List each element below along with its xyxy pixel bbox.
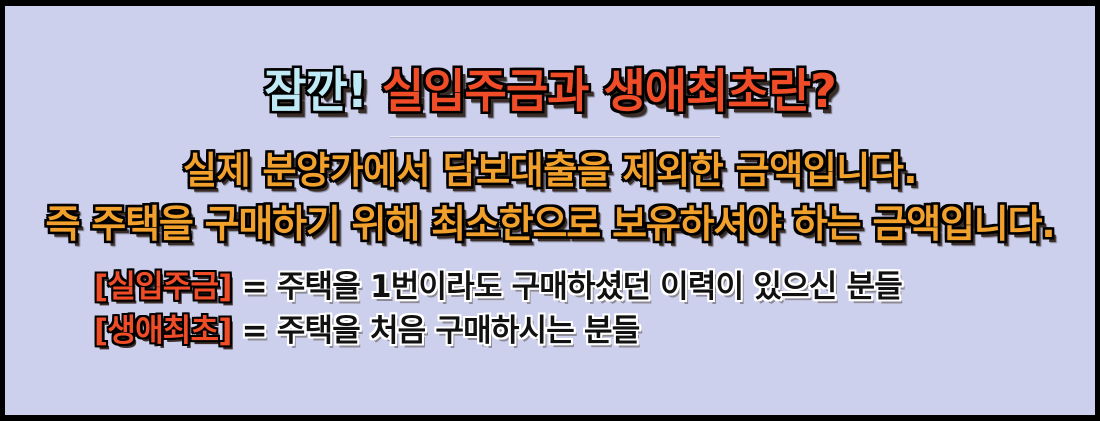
body-line-1: 실제 분양가에서 담보대출을 제외한 금액입니다.	[5, 152, 1095, 189]
definition-list: [실입주금] = 주택을 1번이라도 구매하셨던 이력이 있으신 분들 [생애최…	[5, 272, 1095, 347]
definition-separator-1: =	[232, 269, 277, 305]
definition-tag-silipjugeum: [실입주금]	[94, 269, 232, 305]
definition-tag-saengaechoecho: [생애최초]	[94, 313, 232, 349]
title-highlight-text: 잠깐!	[264, 68, 367, 114]
title-divider	[390, 136, 720, 137]
definition-description-saengaechoecho: 주택을 처음 구매하시는 분들	[277, 313, 640, 349]
definition-row: [실입주금] = 주택을 1번이라도 구매하셨던 이력이 있으신 분들	[94, 272, 1006, 303]
definition-row: [생애최초] = 주택을 처음 구매하시는 분들	[94, 316, 1006, 347]
definition-description-silipjugeum: 주택을 1번이라도 구매하셨던 이력이 있으신 분들	[277, 269, 902, 305]
definition-list-inner: [실입주금] = 주택을 1번이라도 구매하셨던 이력이 있으신 분들 [생애최…	[94, 272, 1006, 347]
title-question-text: 실입주금과 생애최초란?	[382, 68, 836, 114]
banner-title: 잠깐! 실입주금과 생애최초란?	[5, 68, 1095, 114]
title-space	[367, 68, 382, 114]
promo-banner: 잠깐! 실입주금과 생애최초란? 실제 분양가에서 담보대출을 제외한 금액입니…	[0, 0, 1100, 421]
definition-separator-2: =	[232, 313, 277, 349]
body-line-2: 즉 주택을 구매하기 위해 최소한으로 보유하셔야 하는 금액입니다.	[5, 205, 1095, 243]
